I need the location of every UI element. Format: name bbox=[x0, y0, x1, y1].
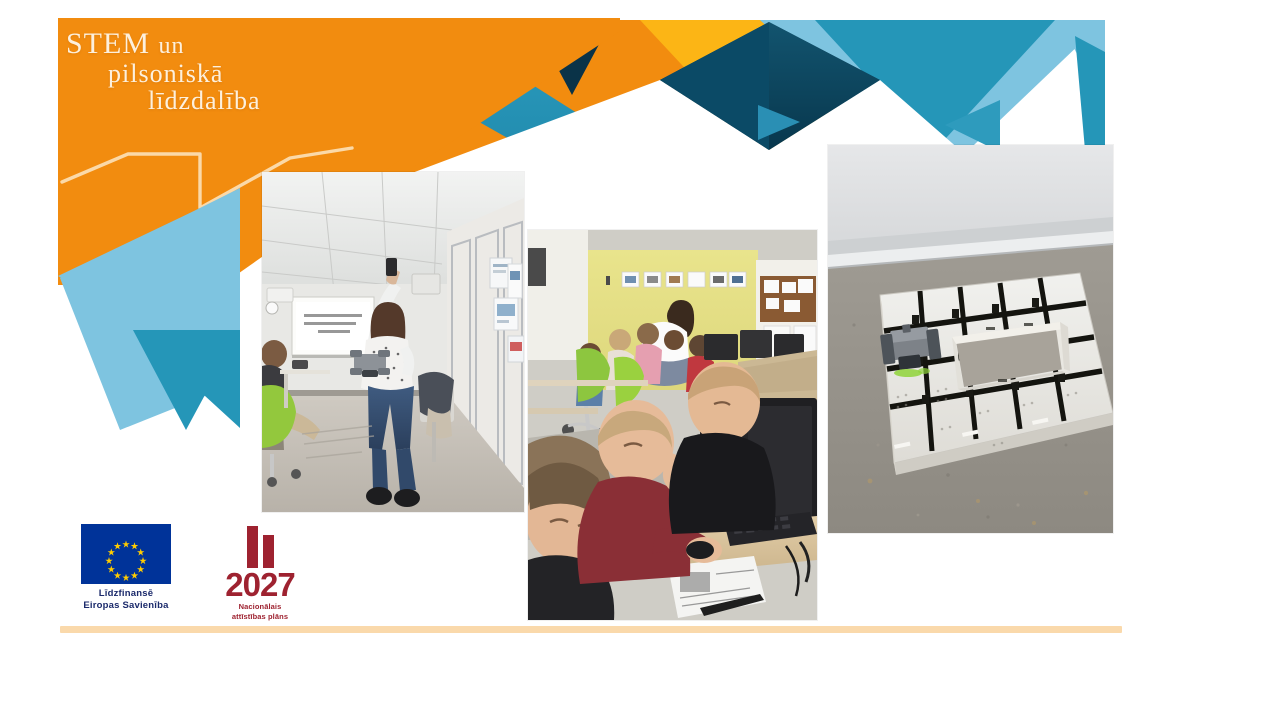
eu-caption-line-2: Eiropas Savienība bbox=[74, 600, 178, 612]
nap-2027-logo: 2027 Nacionālais attīstības plāns bbox=[208, 524, 312, 622]
eu-cofunded-logo: Līdzfinansē Eiropas Savienība bbox=[74, 524, 178, 612]
footer-divider bbox=[60, 626, 1122, 633]
object-mouse bbox=[686, 541, 714, 559]
photo-computerlab bbox=[528, 230, 817, 620]
presentation-slide: STEM un pilsoniskā līdzdalība bbox=[0, 0, 1280, 720]
nap-bars-icon bbox=[208, 524, 312, 568]
nap-caption-line-1: Nacionālais bbox=[208, 602, 312, 612]
eu-caption-line-1: Līdzfinansē bbox=[74, 588, 178, 600]
nap-year: 2027 bbox=[208, 569, 312, 600]
nap-caption-line-2: attīstības plāns bbox=[208, 612, 312, 622]
eu-flag-icon bbox=[81, 524, 171, 584]
photo-robotarena bbox=[828, 145, 1113, 533]
nap-logo-caption: Nacionālais attīstības plāns bbox=[208, 602, 312, 622]
object-drone bbox=[350, 350, 390, 377]
photo-teacher bbox=[262, 172, 524, 512]
eu-logo-caption: Līdzfinansē Eiropas Savienība bbox=[74, 588, 178, 612]
